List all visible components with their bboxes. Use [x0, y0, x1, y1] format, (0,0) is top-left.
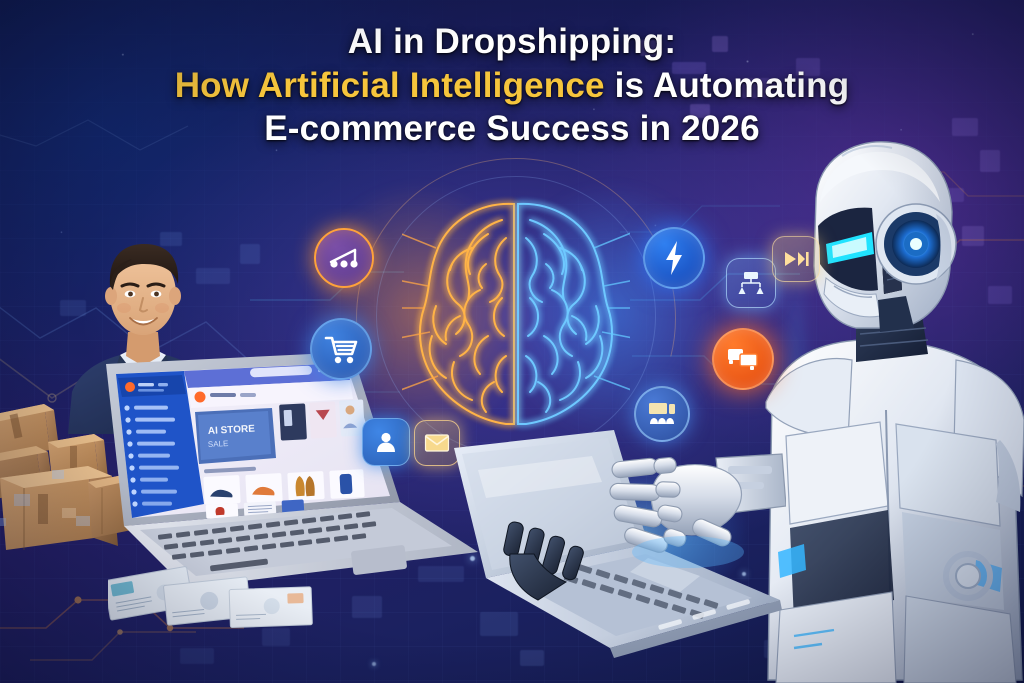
- chat-bubbles-icon[interactable]: [712, 328, 774, 390]
- title-line-2-rest: is Automating: [605, 66, 850, 105]
- title-line-3: E-commerce Success in 2026: [60, 109, 964, 149]
- banner-title-block: AI in Dropshipping: How Artificial Intel…: [0, 22, 1024, 149]
- title-line-2: How Artificial Intelligence is Automatin…: [60, 66, 964, 106]
- banknotes: [108, 560, 308, 640]
- media-play-icon[interactable]: [772, 236, 820, 282]
- robot-hand-right: [596, 452, 786, 592]
- svg-text:SALE: SALE: [208, 439, 229, 449]
- banner-image: AI in Dropshipping: How Artificial Intel…: [0, 0, 1024, 683]
- title-highlight: How Artificial Intelligence: [175, 66, 605, 105]
- network-hierarchy-icon[interactable]: [726, 258, 776, 308]
- shopping-cart-icon[interactable]: [310, 318, 372, 380]
- humanoid-robot: [760, 140, 1024, 683]
- lightning-bolt-icon[interactable]: [643, 227, 705, 289]
- analytics-chart-icon[interactable]: [314, 228, 374, 288]
- title-line-1: AI in Dropshipping:: [60, 22, 964, 62]
- ecommerce-dashboard-laptop[interactable]: AI STORE SALE: [100, 352, 460, 582]
- customer-profile-icon[interactable]: [362, 418, 410, 466]
